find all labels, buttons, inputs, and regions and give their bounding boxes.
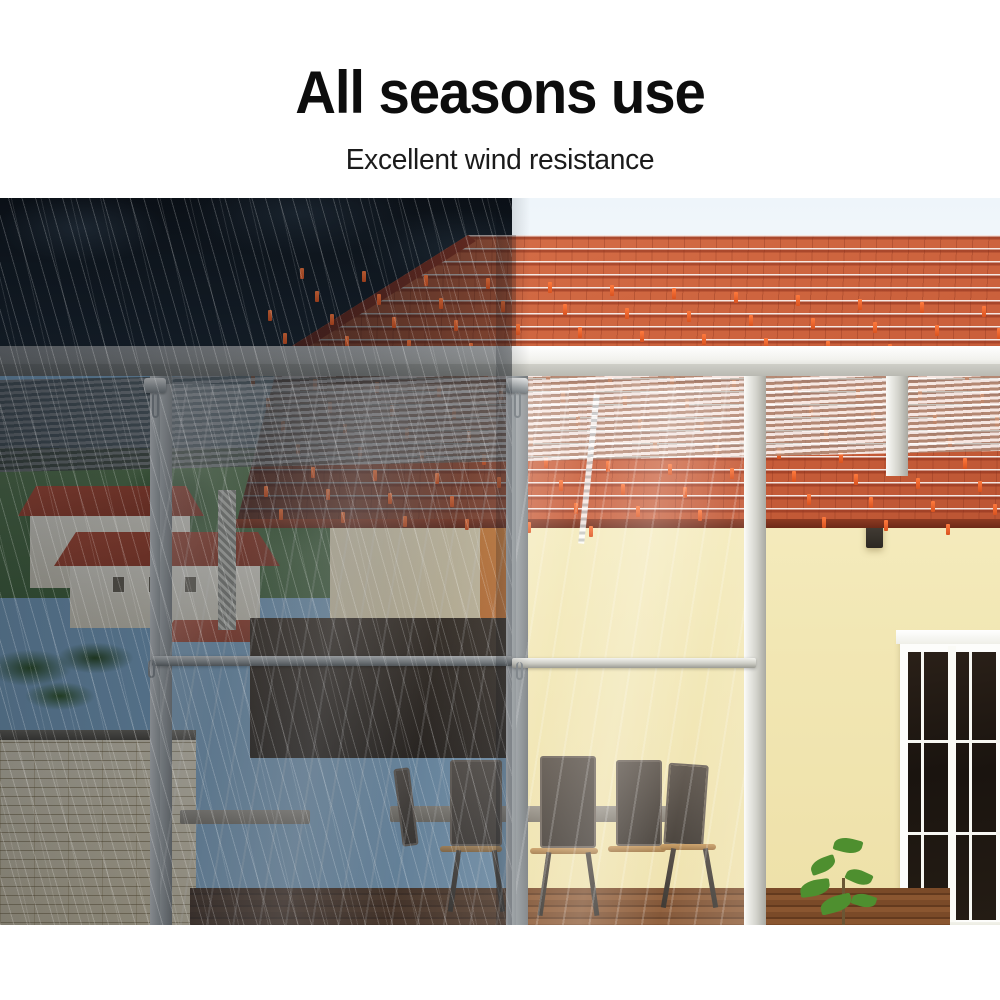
- rail-pull-right[interactable]: [516, 662, 523, 680]
- roof-tile-clip: [486, 278, 490, 289]
- roof-tile-clip: [978, 481, 982, 492]
- roof-tile-clip: [854, 474, 858, 485]
- roof-tile-clip: [946, 524, 950, 535]
- garden-shrub: [790, 818, 910, 925]
- door-mullion: [956, 832, 1000, 835]
- neighbour-window: [112, 576, 125, 593]
- blind-bracket-left[interactable]: [144, 378, 166, 393]
- door-mullion: [969, 652, 972, 920]
- roof-tile-clip: [330, 314, 334, 325]
- roof-tile-clip: [734, 292, 738, 303]
- french-doors: [900, 636, 1000, 925]
- blind-pull-loop-left[interactable]: [152, 392, 159, 418]
- blind-bottom-rail-left[interactable]: [152, 656, 512, 666]
- roof-tile-clip: [672, 288, 676, 299]
- door-glass-pane: [956, 652, 996, 920]
- roof-tile-clip: [931, 501, 935, 512]
- roof-tile-clip: [268, 310, 272, 321]
- roof-tile-clip: [935, 325, 939, 336]
- roof-tile-clip: [982, 306, 986, 317]
- door-mullion: [921, 652, 924, 920]
- roof-tile-clip: [796, 295, 800, 306]
- door-glass-pane: [908, 652, 948, 920]
- roof-tile-clip: [578, 327, 582, 338]
- roof-tile-clip: [424, 275, 428, 286]
- blind-bottom-rail-right[interactable]: [512, 658, 756, 668]
- door-head-trim: [896, 630, 1000, 644]
- roof-tile-clip: [640, 331, 644, 342]
- roof-tile-clip: [963, 458, 967, 469]
- roof-tile-clip: [884, 520, 888, 531]
- roof-tile-clip: [869, 497, 873, 508]
- page-title: All seasons use: [30, 62, 970, 124]
- door-mullion: [908, 832, 948, 835]
- roof-tile-clip: [454, 320, 458, 331]
- roof-tile-clip: [392, 317, 396, 328]
- product-banner: All seasons use Excellent wind resistanc…: [0, 0, 1000, 1000]
- roof-tile-clip: [873, 322, 877, 333]
- door-mullion: [908, 740, 948, 743]
- blind-pull-loop-right[interactable]: [514, 392, 521, 418]
- roof-tile-clip: [516, 324, 520, 335]
- product-photo: Note: Only prevent level 1-2 wind.: [0, 198, 1000, 925]
- roof-tile-clip: [807, 494, 811, 505]
- roof-tile-clip: [920, 302, 924, 313]
- roof-tile-clip: [300, 268, 304, 279]
- roof-tile-clip: [610, 285, 614, 296]
- pvc-blind-panel-left[interactable]: [160, 384, 508, 925]
- footer-whitespace: [0, 925, 1000, 1000]
- blind-bracket-right[interactable]: [506, 378, 528, 393]
- roof-tile-clip: [916, 478, 920, 489]
- roof-tile-clip: [687, 311, 691, 322]
- roof-tile-clip: [792, 471, 796, 482]
- roof-tile-clip: [563, 304, 567, 315]
- roof-tile-clip: [702, 334, 706, 345]
- roof-tile-clip: [283, 333, 287, 344]
- rail-pull-left[interactable]: [148, 660, 155, 678]
- door-mullion: [956, 740, 1000, 743]
- door-mullion-post: [948, 646, 956, 925]
- pergola-beam-storm-shadow: [0, 346, 512, 376]
- roof-tile-clip: [811, 318, 815, 329]
- roof-tile-clip: [993, 504, 997, 515]
- roof-tile-clip: [625, 308, 629, 319]
- roof-tile-clip: [822, 517, 826, 528]
- pergola-post: [886, 376, 908, 476]
- blind-sheen: [160, 384, 508, 925]
- roof-tile-clip: [362, 271, 366, 282]
- roof-tile-clip: [749, 315, 753, 326]
- roof-tile-clip: [439, 298, 443, 309]
- palm-foliage: [0, 628, 150, 728]
- blind-sheen: [516, 384, 746, 925]
- roof-tile-clip: [548, 282, 552, 293]
- roof-tile-clip: [315, 291, 319, 302]
- roof-tile-clip: [377, 294, 381, 305]
- roof-tile-clip: [501, 301, 505, 312]
- page-subtitle: Excellent wind resistance: [15, 143, 985, 177]
- pergola-post: [744, 376, 766, 925]
- pvc-blind-panel-right[interactable]: [516, 384, 746, 925]
- header: All seasons use Excellent wind resistanc…: [0, 0, 1000, 198]
- roof-tile-clip: [858, 299, 862, 310]
